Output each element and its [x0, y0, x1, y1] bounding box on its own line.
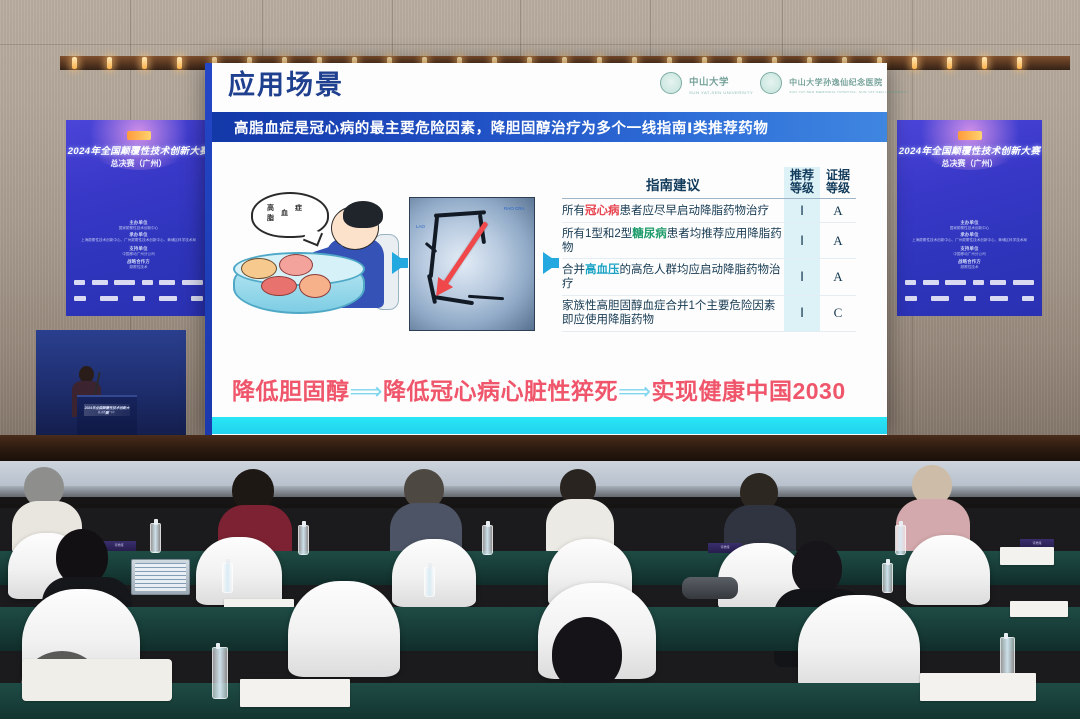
ceiling-light	[72, 57, 77, 69]
conclusion-part-2: 降低冠心病心脏性猝死	[383, 378, 618, 404]
chair	[196, 537, 282, 605]
water-bottle	[424, 567, 435, 597]
banner-org-value-3: 颠覆性技术	[897, 265, 1042, 270]
ceiling-light	[982, 57, 987, 69]
document-paper	[1010, 601, 1068, 617]
sponsor-logo-icon	[990, 296, 1008, 301]
water-bottle	[895, 525, 906, 555]
stenosis-arrow-icon	[441, 221, 489, 288]
folded-cloth	[22, 659, 172, 701]
water-bottle	[482, 525, 493, 555]
water-bottle	[222, 563, 233, 593]
sponsor-logo-icon	[92, 280, 108, 285]
ceiling-light	[947, 57, 952, 69]
coronary-angiogram-image: LAO RAO CRA	[409, 197, 535, 331]
slide-title: 应用场景	[228, 72, 344, 99]
sponsor-logo-icon	[945, 280, 966, 285]
banner-org-value-3: 颠覆性技术	[66, 265, 211, 270]
sponsor-logo-icon	[159, 296, 177, 301]
sponsor-logo-icon	[905, 280, 916, 285]
highlighted-term: 冠心病	[585, 205, 620, 217]
angio-tag-right: RAO CRA	[504, 206, 525, 211]
side-banner-right: 2024年全国颠覆性技术创新大赛 总决赛（广州） 主办单位 国家颠覆性技术创新中…	[897, 120, 1042, 316]
table-header-row: 指南建议 推荐等级 证据等级	[562, 167, 856, 199]
conclusion-part-3: 实现健康中国2030	[651, 378, 845, 404]
cell-evidence-grade: C	[820, 295, 856, 331]
sponsor-logo-icon	[74, 296, 86, 301]
flow-arrow-1-icon	[392, 252, 408, 274]
side-banner-subtitle: 总决赛（广州）	[897, 158, 1042, 169]
sponsor-logo-icon	[973, 280, 984, 285]
slide-conclusion-line: 降低胆固醇⟹降低冠心病心脏性猝死⟹实现健康中国2030	[232, 372, 872, 406]
water-bottle	[150, 523, 161, 553]
table-row: 家族性高胆固醇血症合并1个主要危险因素即应使用降脂药物ⅠC	[562, 295, 856, 331]
sponsor-logo-icon	[159, 280, 175, 285]
screen-left-edge	[205, 63, 212, 435]
ceiling-light	[177, 57, 182, 69]
slide-logos: 中山大学 SUN YAT-SEN UNIVERSITY 中山大学孙逸仙纪念医院 …	[660, 70, 875, 96]
sponsor-logo-icon	[100, 296, 118, 301]
header-rec-grade: 推荐等级	[784, 167, 820, 199]
highlighted-term: 糖尿病	[632, 228, 667, 240]
cartoon-person-hair	[343, 201, 383, 228]
sponsor-logo-icon	[1022, 296, 1034, 301]
banner-org-value-2: 中国移动广州分公司	[66, 252, 211, 257]
sponsor-logo-icon	[133, 296, 145, 301]
side-banner-subtitle: 总决赛（广州）	[66, 158, 211, 169]
banner-org-value-0: 国家颠覆性技术创新中心	[66, 226, 211, 231]
document-paper	[1000, 547, 1054, 565]
angio-tag-left: LAO	[416, 224, 425, 229]
cartoon-speech-bubble: 高 脂 血 症	[251, 192, 329, 238]
cell-evidence-grade: A	[820, 259, 856, 295]
header-recommendation: 指南建议	[562, 167, 784, 199]
banner-sponsor-logos-row1	[74, 280, 203, 285]
conference-room-photo: 2024年全国颠覆性技术创新大赛 总决赛（广州） 主办单位 国家颠覆性技术创新中…	[0, 0, 1080, 719]
sponsor-logo-icon	[931, 296, 949, 301]
banner-sponsor-logos-row1	[905, 280, 1034, 285]
cell-recommendation-grade: Ⅰ	[784, 259, 820, 295]
sponsor-logo-icon	[182, 280, 203, 285]
cartoon-food-meat-2	[261, 276, 297, 296]
water-bottle	[298, 525, 309, 555]
sponsor-logo-icon	[191, 296, 203, 301]
side-banner-title: 2024年全国颠覆性技术创新大赛	[897, 143, 1042, 157]
sponsor-logo-icon	[1013, 280, 1034, 285]
podium-branding: 2024年全国颠覆性技术创新大赛 总决赛（广州）	[84, 404, 130, 416]
conclusion-arrow-2-icon: ⟹	[618, 378, 651, 404]
university-seal-icon	[660, 72, 682, 94]
logo-text-university: 中山大学 SUN YAT-SEN UNIVERSITY	[689, 72, 753, 95]
cell-recommendation-grade: Ⅰ	[784, 199, 820, 223]
logo-text-hospital: 中山大学孙逸仙纪念医院 SUN YAT-SEN MEMORIAL HOSPITA…	[789, 72, 909, 94]
side-banner-title: 2024年全国颠覆性技术创新大赛	[66, 143, 211, 157]
shoulder-bag	[682, 577, 738, 599]
notepad	[240, 679, 350, 707]
table-row: 合并高血压的高危人群均应启动降脂药物治疗ⅠA	[562, 259, 856, 295]
banner-badge-icon	[958, 131, 982, 140]
ceiling-light	[1017, 57, 1022, 69]
cartoon-food-meat-1	[279, 254, 313, 276]
diet-cartoon-illustration: 高 脂 血 症	[231, 190, 399, 315]
notepad	[920, 673, 1036, 701]
slide-banner-text: 高脂血症是冠心病的最主要危险因素，降胆固醇治疗为多个一线指南Ⅰ类推荐药物	[212, 117, 769, 138]
cell-recommendation: 合并高血压的高危人群均应启动降脂药物治疗	[562, 259, 784, 295]
banner-org-value-1: 上海颠覆性技术创新中心、广州颠覆性技术创新中心、黄埔区科学技术局	[66, 238, 211, 243]
water-bottle	[882, 563, 893, 593]
flow-arrow-2-icon	[543, 252, 559, 274]
header-evidence-grade: 证据等级	[820, 167, 856, 199]
table-row: 所有冠心病患者应尽早启动降脂药物治疗ⅠA	[562, 199, 856, 223]
cell-recommendation-grade: Ⅰ	[784, 295, 820, 331]
cell-evidence-grade: A	[820, 199, 856, 223]
chair	[798, 595, 920, 691]
sponsor-logo-icon	[142, 280, 153, 285]
ceiling-light	[912, 57, 917, 69]
chair	[288, 581, 400, 677]
sponsor-logo-icon	[964, 296, 976, 301]
banner-badge-icon	[127, 131, 151, 140]
cartoon-food-meat-3	[299, 274, 331, 298]
sponsor-logo-icon	[905, 296, 917, 301]
cell-evidence-grade: A	[820, 223, 856, 259]
banner-sponsor-logos-row2	[905, 296, 1034, 301]
sponsor-logo-icon	[74, 280, 85, 285]
sponsor-logo-icon	[990, 280, 1006, 285]
water-bottle	[212, 647, 228, 699]
podium-subtitle: 总决赛（广州）	[84, 410, 130, 414]
banner-org-value-0: 国家颠覆性技术创新中心	[897, 226, 1042, 231]
ceiling-light	[142, 57, 147, 69]
sponsor-logo-icon	[923, 280, 939, 285]
banner-org-value-2: 中国移动广州分公司	[897, 252, 1042, 257]
side-banner-left: 2024年全国颠覆性技术创新大赛 总决赛（广州） 主办单位 国家颠覆性技术创新中…	[66, 120, 211, 316]
slide-bottom-accent-bar	[212, 417, 887, 434]
cell-recommendation-grade: Ⅰ	[784, 223, 820, 259]
conclusion-part-1: 降低胆固醇	[232, 378, 350, 404]
highlighted-term: 高血压	[585, 264, 620, 276]
guideline-recommendation-table: 指南建议 推荐等级 证据等级 所有冠心病患者应尽早启动降脂药物治疗ⅠA所有1型和…	[562, 167, 856, 332]
chair	[906, 535, 990, 605]
laptop	[131, 559, 190, 595]
conclusion-arrow-1-icon: ⟹	[350, 378, 383, 404]
ceiling-light	[107, 57, 112, 69]
table-row: 所有1型和2型糖尿病患者均推荐应用降脂药物ⅠA	[562, 223, 856, 259]
banner-sponsor-logos-row2	[74, 296, 203, 301]
hospital-seal-icon	[760, 72, 782, 94]
banner-org-value-1: 上海颠覆性技术创新中心、广州颠覆性技术创新中心、黄埔区科学技术局	[897, 238, 1042, 243]
cell-recommendation: 所有冠心病患者应尽早启动降脂药物治疗	[562, 199, 784, 223]
cell-recommendation: 家族性高胆固醇血症合并1个主要危险因素即应使用降脂药物	[562, 295, 784, 331]
slide-key-message-banner: 高脂血症是冠心病的最主要危险因素，降胆固醇治疗为多个一线指南Ⅰ类推荐药物	[212, 112, 887, 142]
sponsor-logo-icon	[114, 280, 135, 285]
cell-recommendation: 所有1型和2型糖尿病患者均推荐应用降脂药物	[562, 223, 784, 259]
audience-area: 评委席 评委席 评委席	[0, 455, 1080, 719]
